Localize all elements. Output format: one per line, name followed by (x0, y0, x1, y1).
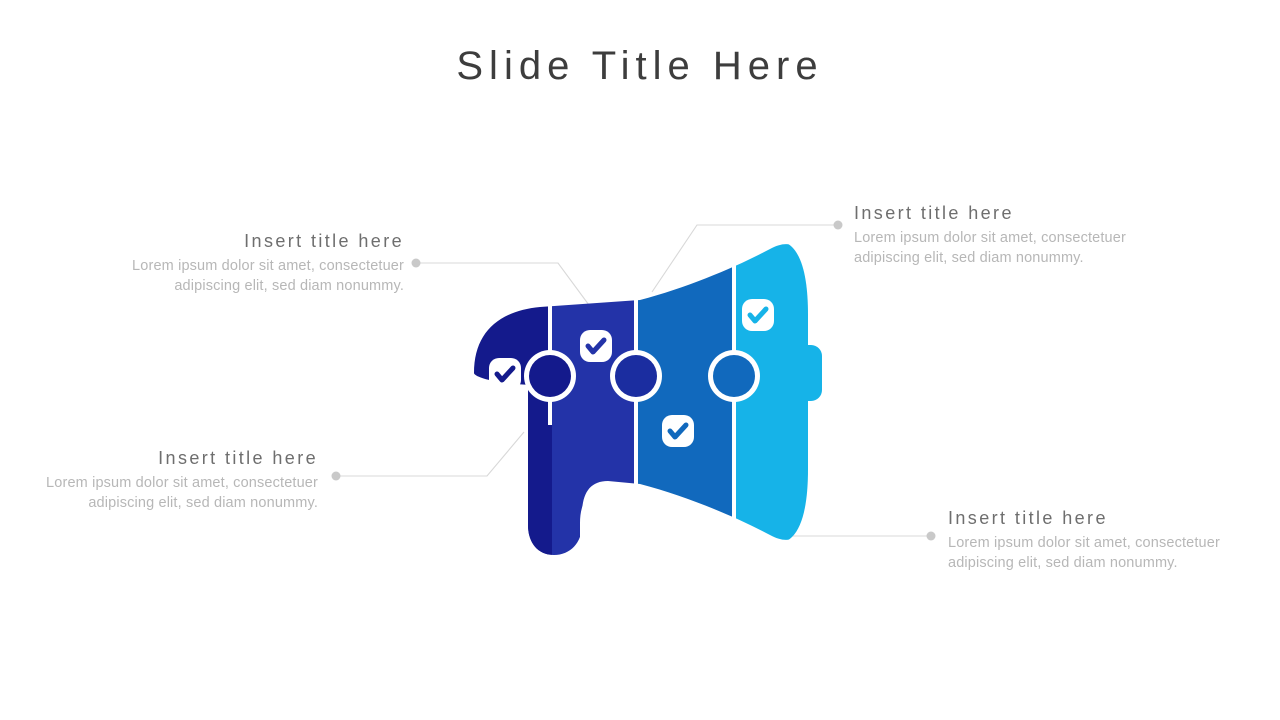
puzzle-pieces (460, 241, 808, 570)
puzzle-seam-connectors (524, 350, 760, 402)
callout-top-right[interactable]: Insert title here Lorem ipsum dolor sit … (854, 203, 1134, 268)
callout-body: Lorem ipsum dolor sit amet, consectetuer… (948, 534, 1228, 573)
page-title: Slide Title Here (0, 44, 1280, 89)
callout-body: Lorem ipsum dolor sit amet, consectetuer… (120, 257, 404, 296)
callout-title: Insert title here (38, 448, 318, 469)
callout-body: Lorem ipsum dolor sit amet, consectetuer… (854, 229, 1134, 268)
callout-title: Insert title here (854, 203, 1134, 224)
check-badge-2[interactable] (580, 330, 612, 362)
check-badge-1[interactable] (489, 358, 521, 390)
megaphone-rear-nub (796, 345, 822, 401)
callout-top-left[interactable]: Insert title here Lorem ipsum dolor sit … (120, 231, 404, 296)
callout-body: Lorem ipsum dolor sit amet, consectetuer… (38, 474, 318, 513)
callout-bottom-right[interactable]: Insert title here Lorem ipsum dolor sit … (948, 508, 1228, 573)
callout-title: Insert title here (948, 508, 1228, 529)
check-badge-3[interactable] (662, 415, 694, 447)
check-badge-4[interactable] (742, 299, 774, 331)
callout-bottom-left[interactable]: Insert title here Lorem ipsum dolor sit … (38, 448, 318, 513)
puzzle-piece-1[interactable] (460, 303, 552, 570)
megaphone-puzzle-graphic (440, 225, 840, 570)
slide-canvas: Slide Title Here (0, 0, 1280, 720)
callout-title: Insert title here (120, 231, 404, 252)
